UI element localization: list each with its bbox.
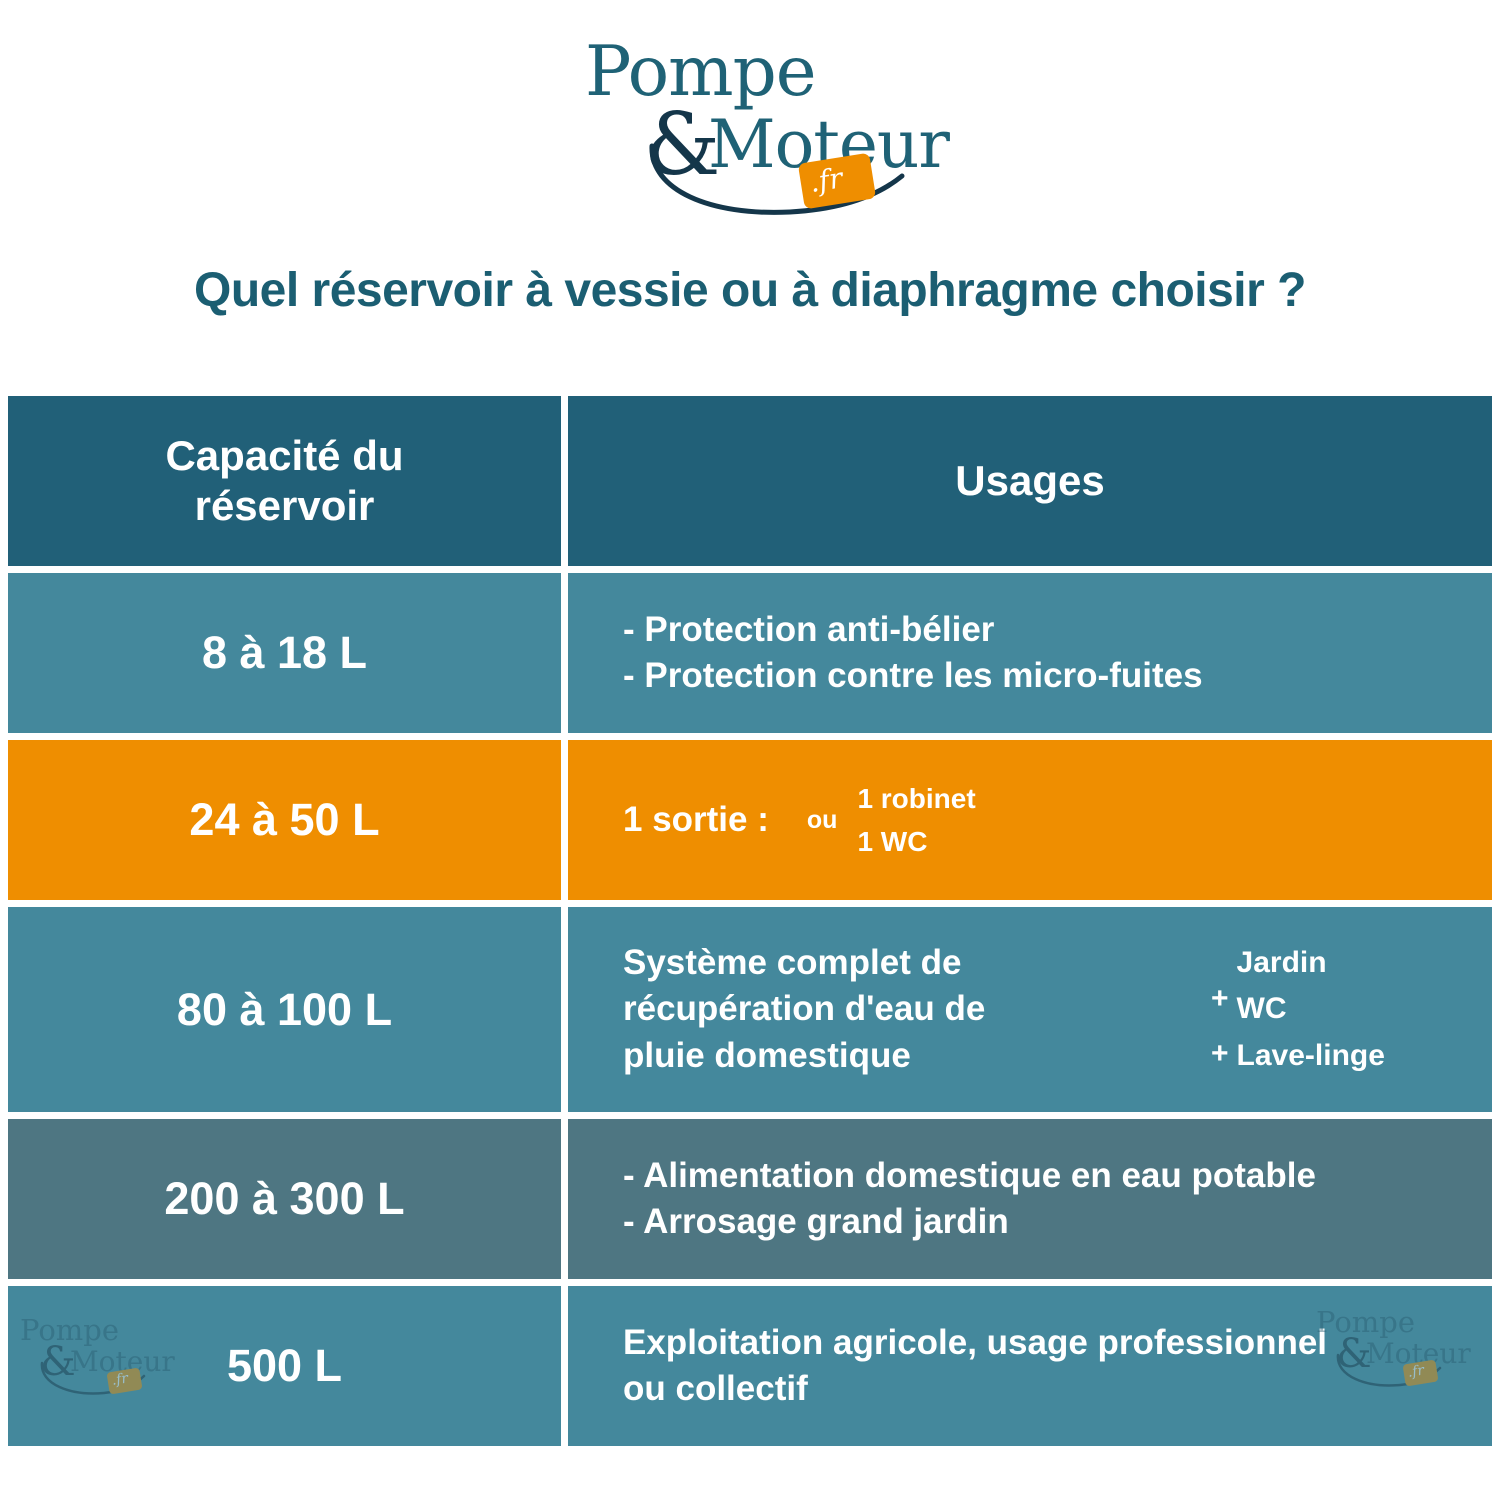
sortie-label: 1 sortie : [623,800,769,840]
cell-usages: - Protection anti-bélier - Protection co… [568,573,1492,733]
header-usages-text: Usages [592,456,1468,506]
cell-usages: 1 sortie : ou 1 robinet 1 WC [568,740,1492,900]
usage-line: - Arrosage grand jardin [623,1199,1468,1245]
watermark-word-moteur: Moteur [70,1348,175,1376]
system-addons-group: + + Jardin WC Lave-linge [1211,938,1385,1081]
sortie-option: 1 robinet [857,777,975,820]
usage-line: Exploitation agricole, usage professionn… [623,1320,1468,1366]
usage-list: Exploitation agricole, usage professionn… [568,1320,1492,1412]
system-addon: WC [1237,986,1385,1033]
watermark-tld-badge: .fr [106,1368,142,1395]
capacity-usage-table: Capacité du réservoir Usages 8 à 18 L - … [8,396,1492,1453]
header-cell-usages: Usages [568,396,1492,566]
capacity-value: 24 à 50 L [189,795,379,845]
usage-list: - Protection anti-bélier - Protection co… [568,607,1492,699]
system-description: Système complet de récupération d'eau de… [623,940,1183,1080]
table-row: 80 à 100 L Système complet de récupérati… [8,907,1492,1112]
sortie-options: 1 robinet 1 WC [857,777,975,864]
usage-list: - Alimentation domestique en eau potable… [568,1153,1492,1245]
table-row: 200 à 300 L - Alimentation domestique en… [8,1119,1492,1279]
watermark-word-pompe: Pompe [20,1316,119,1345]
system-group: Système complet de récupération d'eau de… [623,938,1468,1081]
cell-capacity: 8 à 18 L [8,573,561,733]
header-cell-capacity: Capacité du réservoir [8,396,561,566]
usage-line: ou collectif [623,1366,1468,1412]
sortie-group: 1 sortie : ou 1 robinet 1 WC [623,777,1468,864]
capacity-value: 500 L [227,1341,342,1391]
sortie-connector: ou [807,806,838,835]
header-capacity-line1: Capacité du [165,431,403,481]
logo-mark: Pompe & Moteur .fr [580,28,920,213]
watermark-logo-left: Pompe & Moteur .fr [18,1314,168,1410]
capacity-value: 8 à 18 L [202,628,367,678]
system-addon: Jardin [1237,940,1385,987]
header-capacity-text: Capacité du réservoir [165,431,403,530]
table-header-row: Capacité du réservoir Usages [8,396,1492,566]
logo-swoosh-icon [640,138,920,218]
usage-line: récupération d'eau de [623,986,1183,1033]
usage-line: - Alimentation domestique en eau potable [623,1153,1468,1199]
plus-icon: + [1211,972,1229,1027]
infographic-page: Pompe & Moteur .fr Quel réservoir à vess… [0,0,1500,1500]
plus-icon: + [1211,1027,1229,1082]
usage-line: Système complet de [623,940,1183,987]
logo-tld-text: .fr [807,161,844,199]
cell-usages: - Alimentation domestique en eau potable… [568,1119,1492,1279]
cell-usages: Système complet de récupération d'eau de… [568,907,1492,1112]
watermark-swoosh-icon [38,1360,148,1400]
usage-line: - Protection anti-bélier [623,607,1468,653]
cell-capacity: 24 à 50 L [8,740,561,900]
usage-list: Système complet de récupération d'eau de… [568,938,1492,1081]
system-addon-list: Jardin WC Lave-linge [1237,940,1385,1080]
table-row: Pompe & Moteur .fr 500 L Exploitation ag… [8,1286,1492,1446]
watermark-ampersand-icon: & [40,1342,76,1382]
cell-capacity: 80 à 100 L [8,907,561,1112]
plus-sign-column: + + [1211,938,1229,1081]
cell-usages: Exploitation agricole, usage professionn… [568,1286,1492,1446]
usage-line: - Protection contre les micro-fuites [623,653,1468,699]
usage-list: 1 sortie : ou 1 robinet 1 WC [568,777,1492,864]
page-title: Quel réservoir à vessie ou à diaphragme … [0,263,1500,318]
table-row: 8 à 18 L - Protection anti-bélier - Prot… [8,573,1492,733]
table-row: 24 à 50 L 1 sortie : ou 1 robinet 1 WC [8,740,1492,900]
brand-logo: Pompe & Moteur .fr [0,28,1500,218]
capacity-value: 80 à 100 L [177,985,392,1035]
cell-capacity: Pompe & Moteur .fr 500 L [8,1286,561,1446]
sortie-option: 1 WC [857,820,975,863]
header-capacity-line2: réservoir [165,481,403,531]
system-addon: Lave-linge [1237,1033,1385,1080]
watermark-tld-text: .fr [111,1371,130,1389]
capacity-value: 200 à 300 L [164,1174,404,1224]
cell-capacity: 200 à 300 L [8,1119,561,1279]
usage-line: pluie domestique [623,1033,1183,1080]
